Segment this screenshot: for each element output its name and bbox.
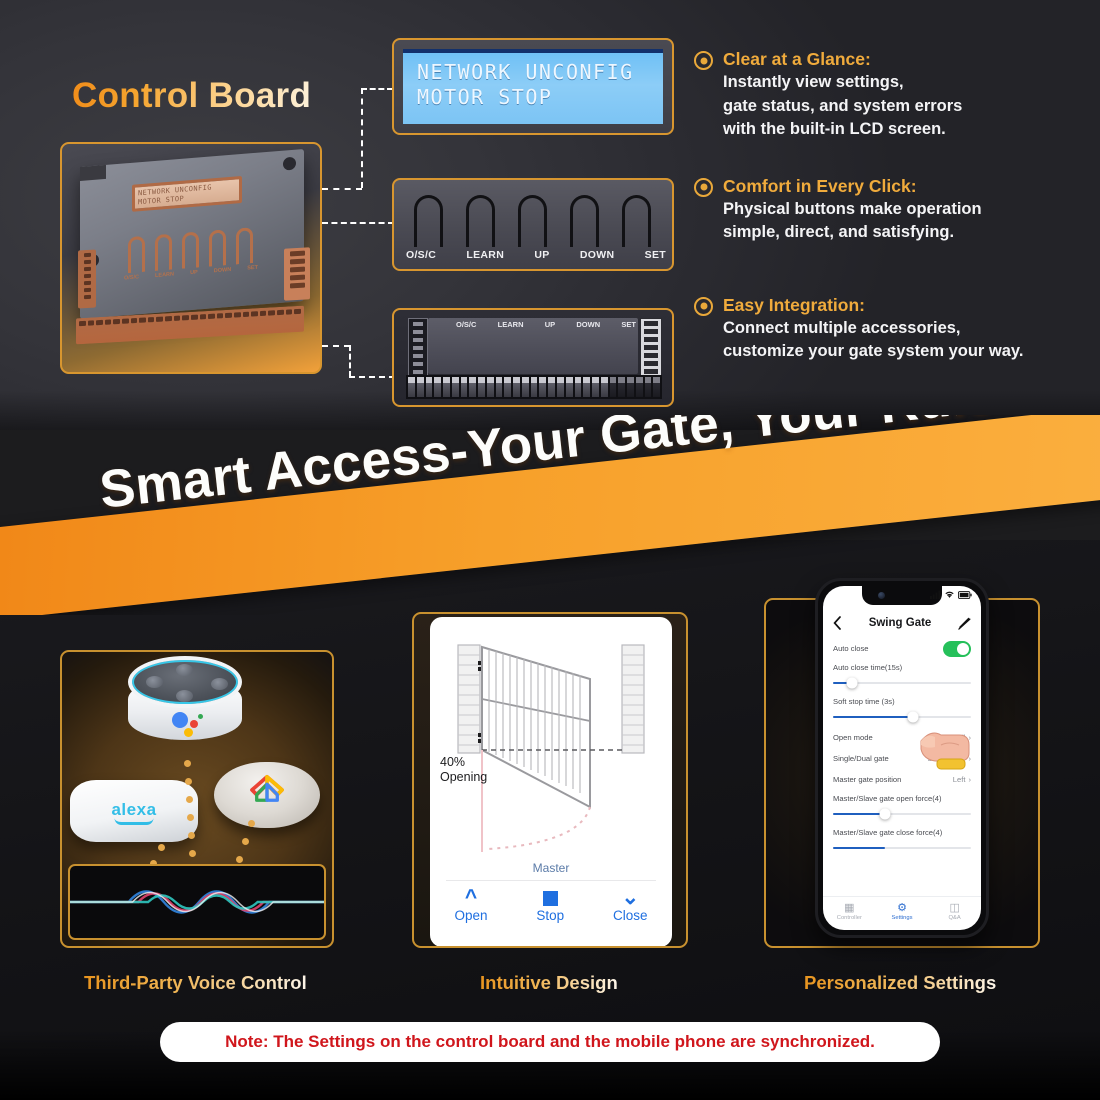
lcd-line-2: MOTOR STOP <box>417 85 552 109</box>
stop-label: Stop <box>536 908 564 923</box>
front-camera-icon <box>878 592 885 599</box>
gate-diagram-screen: 40% Opening Master ^ Open Stop ⌄ Close <box>430 617 672 947</box>
connector-line <box>322 345 350 347</box>
terminal-label-learn: LEARN <box>498 320 524 329</box>
slider-track <box>833 682 971 685</box>
wifi-icon <box>944 590 955 599</box>
button-label-down: DOWN <box>580 249 614 261</box>
battery-icon <box>958 591 972 599</box>
button-labels: O/S/C LEARN UP DOWN SET <box>406 249 666 261</box>
connector-line <box>361 88 363 188</box>
google-home-logo-icon <box>248 774 286 804</box>
bullet-item: Easy Integration: Connect multiple acces… <box>694 294 1094 363</box>
button-down[interactable] <box>570 195 599 247</box>
bullet-line: gate status, and system errors <box>723 96 962 118</box>
pcb-button-oscshape <box>128 236 145 273</box>
app-title: Swing Gate <box>869 617 932 629</box>
echo-button-icon <box>176 690 193 702</box>
terminal-label-osc: O/S/C <box>456 320 476 329</box>
open-force-slider[interactable] <box>833 808 971 820</box>
auto-close-time-slider[interactable] <box>833 677 971 689</box>
terminal-pins-right <box>640 318 662 376</box>
pcb-label-osc: O/S/C <box>124 274 139 281</box>
gate-control-row: ^ Open Stop ⌄ Close <box>430 888 672 923</box>
setting-label: Master/Slave gate close force(4) <box>833 828 942 837</box>
terminal-label-up: UP <box>545 320 555 329</box>
chevron-left-icon[interactable] <box>833 616 842 630</box>
control-board-photo: NETWORK UNCONFIGMOTOR STOP O/S/C LEARN U… <box>60 142 322 374</box>
lcd-screen: NETWORK UNCONFIG MOTOR STOP <box>403 49 663 124</box>
target-icon <box>694 178 713 197</box>
gear-icon: ⚙ <box>876 902 929 915</box>
caption-personalized-settings: Personalized Settings <box>804 972 996 994</box>
smartphone-mockup: Swing Gate Auto close Auto close time(15… <box>815 578 989 938</box>
echo-dot-icon <box>124 650 246 752</box>
pcb-button-down-shape <box>209 229 226 266</box>
note-text: Note: The Settings on the control board … <box>225 1032 875 1052</box>
bullet-line: with the built-in LCD screen. <box>723 119 962 141</box>
pcb-label-learn: LEARN <box>155 271 174 279</box>
terminal-pins-left <box>408 318 428 376</box>
echo-top-surface <box>128 656 242 708</box>
button-shapes-row <box>414 189 660 247</box>
caption-voice-control: Third-Party Voice Control <box>84 972 307 994</box>
pcb-label-set: SET <box>247 265 258 272</box>
setting-row-auto-close[interactable]: Auto close <box>833 638 971 659</box>
pcb-body: NETWORK UNCONFIGMOTOR STOP O/S/C LEARN U… <box>80 149 304 319</box>
terminal-label-set: SET <box>621 320 636 329</box>
pcb-lcd-screen: NETWORK UNCONFIGMOTOR STOP <box>132 176 242 212</box>
signal-icon <box>930 590 941 599</box>
terminal-detail-panel: O/S/C LEARN UP DOWN SET <box>392 308 674 407</box>
setting-label: Open mode <box>833 733 873 742</box>
slider-fill <box>833 716 913 719</box>
connector-line <box>322 222 394 224</box>
open-button[interactable]: ^ Open <box>454 888 487 923</box>
pcb-terminal-left <box>78 250 96 309</box>
bullet-item: Clear at a Glance: Instantly view settin… <box>694 48 1094 141</box>
pcb-button-up-shape <box>182 231 199 268</box>
controller-icon: ▦ <box>823 902 876 915</box>
pcb-button-set-shape <box>236 227 253 264</box>
open-label: Open <box>454 908 487 923</box>
gate-diagram-icon <box>430 617 672 885</box>
tab-label: Q&A <box>949 915 961 921</box>
bullet-line: customize your gate system your way. <box>723 341 1023 363</box>
bullet-title: Clear at a Glance: <box>723 48 962 70</box>
tab-settings[interactable]: ⚙ Settings <box>876 897 929 930</box>
caption-intuitive-design: Intuitive Design <box>480 972 618 994</box>
alexa-device-icon: alexa <box>70 780 198 842</box>
chevron-right-icon: › <box>968 775 971 784</box>
close-button[interactable]: ⌄ Close <box>613 888 648 923</box>
bullet-line: Connect multiple accessories, <box>723 318 1023 340</box>
button-label-up: UP <box>534 249 549 261</box>
siri-waveform-icon <box>70 879 324 925</box>
opening-text: Opening <box>440 770 487 784</box>
opening-percent-value: 40% <box>440 755 465 769</box>
page-title: Control Board <box>72 76 311 116</box>
terminal-label-down: DOWN <box>576 320 600 329</box>
setting-row-open-force[interactable]: Master/Slave gate open force(4) <box>833 790 971 820</box>
intuitive-design-card: 40% Opening Master ^ Open Stop ⌄ Close <box>412 612 688 948</box>
setting-value: Left <box>953 775 966 784</box>
tab-controller[interactable]: ▦ Controller <box>823 897 876 930</box>
pointing-hand-icon <box>915 719 973 773</box>
personalized-settings-card: Swing Gate Auto close Auto close time(15… <box>764 598 1040 948</box>
echo-button-icon <box>176 664 193 676</box>
close-label: Close <box>613 908 648 923</box>
phone-screen: Swing Gate Auto close Auto close time(15… <box>823 586 981 930</box>
tab-label: Settings <box>892 915 913 921</box>
infographic-root: Control Board NETWORK UNCONFIGMOTOR STOP… <box>0 0 1100 1100</box>
slider-knob[interactable] <box>880 809 891 820</box>
google-assistant-icon <box>172 710 206 736</box>
slider-fill <box>833 847 885 850</box>
google-nest-mini-icon <box>214 752 320 832</box>
button-set[interactable] <box>622 195 651 247</box>
bullet-line: Instantly view settings, <box>723 72 962 94</box>
stop-square-icon <box>536 888 564 908</box>
connector-line <box>349 345 351 377</box>
voice-control-card: alexa <box>60 650 334 948</box>
note-bar: Note: The Settings on the control board … <box>160 1022 940 1062</box>
terminal-strip <box>406 375 662 399</box>
tab-qa[interactable]: ◫ Q&A <box>928 897 981 930</box>
setting-row-auto-close-time[interactable]: Auto close time(15s) <box>833 659 971 689</box>
setting-label: Master/Slave gate open force(4) <box>833 794 941 803</box>
status-bar <box>930 590 972 599</box>
bottom-tab-bar: ▦ Controller ⚙ Settings ◫ Q&A <box>823 896 981 930</box>
bullet-item: Comfort in Every Click: Physical buttons… <box>694 175 1094 244</box>
pcb-label-down: DOWN <box>214 267 231 274</box>
setting-label: Single/Dual gate <box>833 754 889 763</box>
chevron-down-icon: ⌄ <box>613 888 648 908</box>
pcb-label-up: UP <box>190 270 198 277</box>
connector-line <box>349 376 395 378</box>
button-label-set: SET <box>645 249 666 261</box>
chevron-up-icon: ^ <box>454 888 487 908</box>
auto-close-toggle[interactable] <box>943 641 971 657</box>
echo-button-icon <box>146 676 163 688</box>
connector-line <box>322 188 362 190</box>
gate-name-label: Master <box>430 861 672 875</box>
lcd-detail-panel: NETWORK UNCONFIG MOTOR STOP <box>392 38 674 135</box>
slider-track <box>833 847 971 850</box>
tab-label: Controller <box>837 915 862 921</box>
button-up[interactable] <box>518 195 547 247</box>
button-osc[interactable] <box>414 195 443 247</box>
setting-label: Auto close <box>833 644 868 653</box>
pcb-button-learn-shape <box>155 234 172 271</box>
feature-bullet-list: Clear at a Glance: Instantly view settin… <box>694 48 1094 387</box>
pencil-icon[interactable] <box>958 617 971 630</box>
setting-label: Master gate position <box>833 775 901 784</box>
app-header: Swing Gate <box>823 610 981 636</box>
connector-line <box>361 88 393 90</box>
slider-knob[interactable] <box>847 678 858 689</box>
divider <box>446 880 656 881</box>
setting-label: Auto close time(15s) <box>833 663 902 672</box>
alexa-logo-icon: alexa <box>111 800 156 820</box>
target-icon <box>694 297 713 316</box>
slider-track <box>833 716 971 719</box>
button-learn[interactable] <box>466 195 495 247</box>
bullet-line: Physical buttons make operation <box>723 199 982 221</box>
button-label-osc: O/S/C <box>406 249 436 261</box>
bullet-title: Comfort in Every Click: <box>723 175 982 197</box>
siri-waveform-panel <box>68 864 326 940</box>
echo-button-icon <box>211 678 228 690</box>
pcb-button-row <box>128 215 254 273</box>
bullet-line: simple, direct, and satisfying. <box>723 222 982 244</box>
close-force-slider[interactable] <box>833 842 971 854</box>
slider-fill <box>833 813 885 816</box>
lcd-line-1: NETWORK UNCONFIG <box>417 60 634 84</box>
slider-track <box>833 813 971 816</box>
pcb-terminal-right <box>284 247 310 300</box>
stop-button[interactable]: Stop <box>536 888 564 923</box>
setting-label: Soft stop time (3s) <box>833 697 895 706</box>
mounting-hole-icon <box>283 157 296 171</box>
target-icon <box>694 51 713 70</box>
setting-row-close-force[interactable]: Master/Slave gate close force(4) <box>833 824 971 854</box>
qa-icon: ◫ <box>928 902 981 915</box>
opening-percentage-label: 40% Opening <box>440 755 487 785</box>
buttons-detail-panel: O/S/C LEARN UP DOWN SET <box>392 178 674 271</box>
terminal-button-labels: O/S/C LEARN UP DOWN SET <box>456 320 636 329</box>
button-label-learn: LEARN <box>466 249 504 261</box>
bullet-title: Easy Integration: <box>723 294 1023 316</box>
